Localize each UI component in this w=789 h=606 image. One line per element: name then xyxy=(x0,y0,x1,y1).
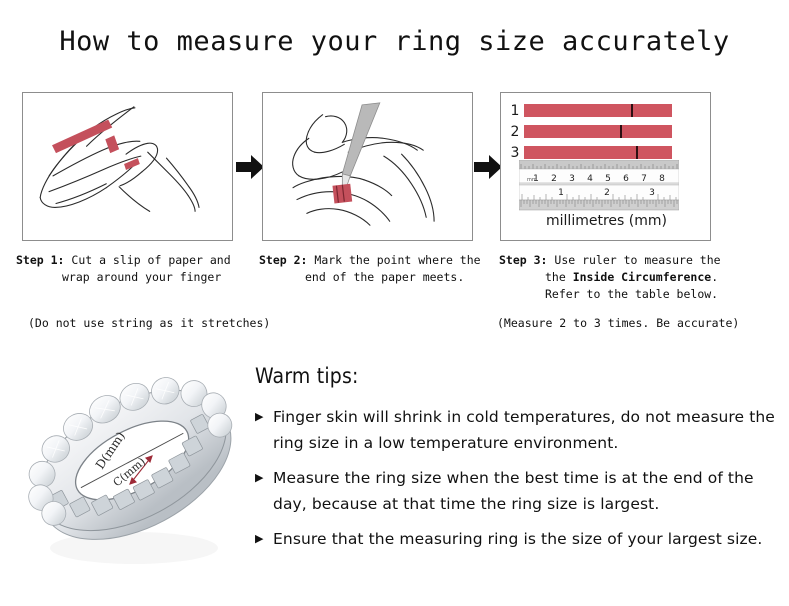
strip-row: 1 xyxy=(506,101,706,120)
svg-text:7: 7 xyxy=(641,174,647,184)
tip-text: Ensure that the measuring ring is the si… xyxy=(273,526,775,552)
step-3-illustration-panel: 1 2 3 xyxy=(500,92,711,241)
svg-text:4: 4 xyxy=(587,174,593,184)
ring-illustration-icon: D(mm) C(mm) xyxy=(18,352,250,584)
step-3-line2: the Inside Circumference. xyxy=(499,269,749,286)
warm-tips-title: Warm tips: xyxy=(255,364,775,388)
hand-with-paper-strip-icon xyxy=(23,93,232,240)
svg-text:5: 5 xyxy=(605,174,611,184)
step-3-line3: Refer to the table below. xyxy=(499,286,749,303)
hand-marking-with-pen-icon xyxy=(263,93,472,240)
warm-tips-section: Warm tips: ▶ Finger skin will shrink in … xyxy=(255,364,775,561)
step-3-line2-tail: . xyxy=(711,270,718,284)
step-2-line1: Mark the point where the xyxy=(307,253,480,267)
step-3-line1: Use ruler to measure the xyxy=(547,253,720,267)
bullet-triangle-icon: ▶ xyxy=(255,526,273,552)
svg-text:mm: mm xyxy=(527,177,537,183)
bullet-triangle-icon: ▶ xyxy=(255,404,273,430)
paper-strip xyxy=(524,125,672,138)
svg-text:3: 3 xyxy=(569,174,575,184)
step-1-note: (Do not use string as it stretches) xyxy=(28,316,270,330)
svg-text:2: 2 xyxy=(551,174,557,184)
measured-strips-list: 1 2 3 xyxy=(506,101,706,164)
tip-item: ▶ Ensure that the measuring ring is the … xyxy=(255,526,775,552)
step-1-line2: wrap around your finger xyxy=(16,269,256,286)
step-1-line1: Cut a slip of paper and xyxy=(64,253,230,267)
step-3-line2-prefix: the xyxy=(545,270,573,284)
strip-mark xyxy=(631,104,633,117)
arrow-step1-to-step2-icon xyxy=(236,152,264,182)
strip-row: 2 xyxy=(506,122,706,141)
arrow-step2-to-step3-icon xyxy=(474,152,502,182)
svg-text:2: 2 xyxy=(604,188,610,198)
strip-number: 3 xyxy=(506,146,524,160)
page-title: How to measure your ring size accurately xyxy=(0,26,789,57)
step-3-note: (Measure 2 to 3 times. Be accurate) xyxy=(497,316,739,330)
strip-mark xyxy=(620,125,622,138)
paper-strip xyxy=(524,104,672,117)
strip-mark xyxy=(636,146,638,159)
ring-diagram: D(mm) C(mm) xyxy=(18,352,250,584)
svg-text:3: 3 xyxy=(649,188,655,198)
svg-text:6: 6 xyxy=(623,174,629,184)
svg-text:8: 8 xyxy=(659,174,665,184)
step-2-label: Step 2: xyxy=(259,253,307,267)
step-2-caption: Step 2: Mark the point where the end of … xyxy=(259,252,499,286)
paper-strip xyxy=(524,146,672,159)
step-2-illustration-panel xyxy=(262,92,473,241)
steps-row: 1 2 3 xyxy=(0,92,789,244)
tip-item: ▶ Finger skin will shrink in cold temper… xyxy=(255,404,775,456)
inside-circumference-emphasis: Inside Circumference xyxy=(573,270,711,284)
step-1-caption: Step 1: Cut a slip of paper and wrap aro… xyxy=(16,252,256,286)
step-1-illustration-panel xyxy=(22,92,233,241)
strip-number: 2 xyxy=(506,125,524,139)
tip-text: Measure the ring size when the best time… xyxy=(273,465,775,517)
tip-text: Finger skin will shrink in cold temperat… xyxy=(273,404,775,456)
strip-number: 1 xyxy=(506,104,524,118)
step-3-caption: Step 3: Use ruler to measure the the Ins… xyxy=(499,252,749,303)
step-1-label: Step 1: xyxy=(16,253,64,267)
tip-item: ▶ Measure the ring size when the best ti… xyxy=(255,465,775,517)
step-3-label: Step 3: xyxy=(499,253,547,267)
ruler-unit-caption: millimetres (mm) xyxy=(501,213,711,229)
svg-text:1: 1 xyxy=(558,188,564,198)
ruler-icon: 1 2 3 4 5 6 7 8 mm 1 2 3 xyxy=(519,160,679,212)
step-2-line2: end of the paper meets. xyxy=(259,269,499,286)
bullet-triangle-icon: ▶ xyxy=(255,465,273,491)
